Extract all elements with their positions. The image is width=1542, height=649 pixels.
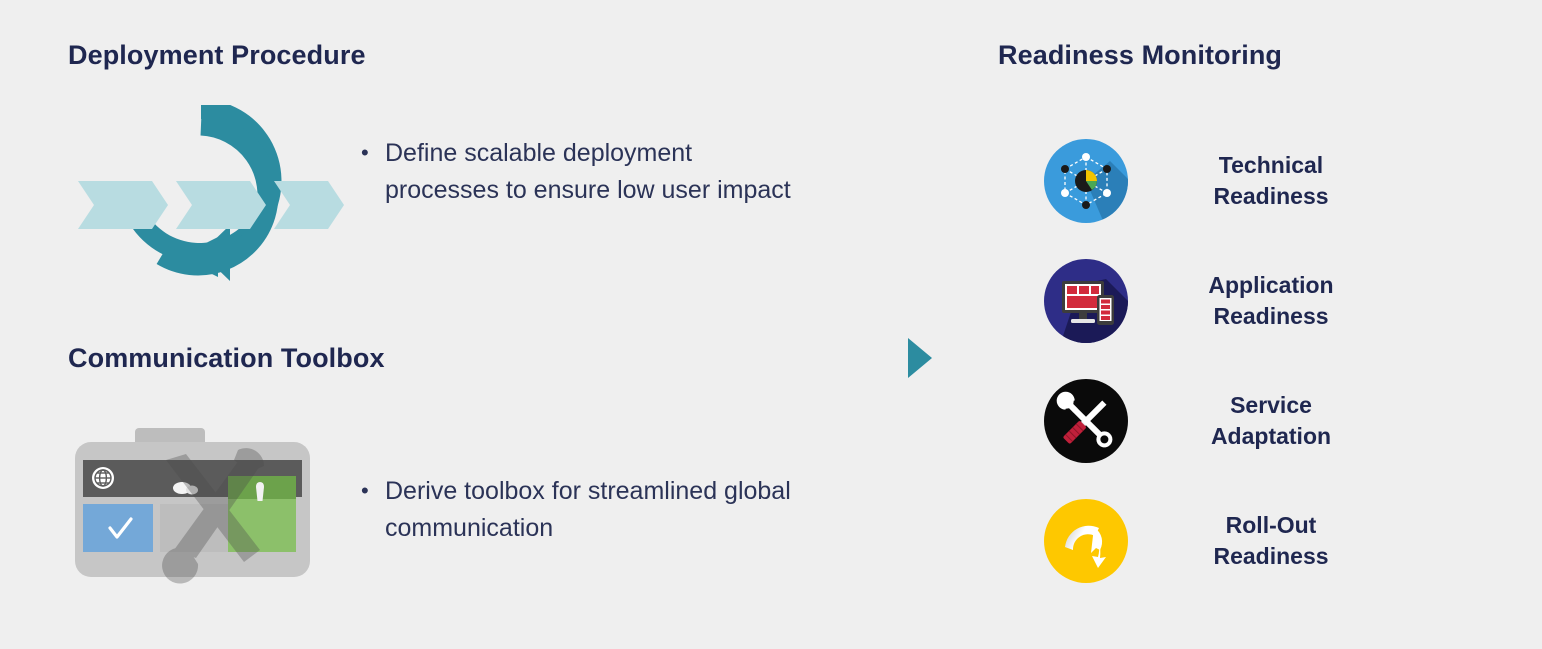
network-analytics-icon	[1040, 135, 1132, 227]
list-item: Service Adaptation	[1040, 373, 1460, 468]
curved-arrow-icon	[1040, 495, 1132, 587]
communication-toolbox-heading: Communication Toolbox	[68, 343, 385, 374]
toolbox-icon	[70, 420, 330, 590]
readiness-item-label: Roll-Out Readiness	[1132, 510, 1460, 572]
slide-canvas: Deployment Procedure Communication Toolb…	[0, 0, 1542, 649]
readiness-item-label: Application Readiness	[1132, 270, 1460, 332]
readiness-monitoring-heading: Readiness Monitoring	[998, 40, 1282, 71]
deployment-procedure-block: Define scalable deployment processes to …	[70, 105, 870, 295]
deployment-bullet-list: Define scalable deployment processes to …	[355, 135, 795, 209]
right-triangle-arrow-icon	[908, 338, 932, 378]
devices-screen-icon	[1040, 255, 1132, 347]
deployment-procedure-heading: Deployment Procedure	[68, 40, 366, 71]
toolbox-bullet-list: Derive toolbox for streamlined global co…	[355, 473, 825, 547]
readiness-monitoring-list: Technical Readiness	[1040, 133, 1460, 613]
list-item: Application Readiness	[1040, 253, 1460, 348]
list-item: Technical Readiness	[1040, 133, 1460, 228]
readiness-item-label: Service Adaptation	[1132, 390, 1460, 452]
wrench-screwdriver-icon	[1040, 375, 1132, 467]
cycle-arrows-icon	[70, 105, 345, 300]
list-item: Derive toolbox for streamlined global co…	[355, 473, 825, 547]
readiness-item-label: Technical Readiness	[1132, 150, 1460, 212]
list-item: Define scalable deployment processes to …	[355, 135, 795, 209]
list-item: Roll-Out Readiness	[1040, 493, 1460, 588]
communication-toolbox-block: Derive toolbox for streamlined global co…	[70, 420, 870, 600]
